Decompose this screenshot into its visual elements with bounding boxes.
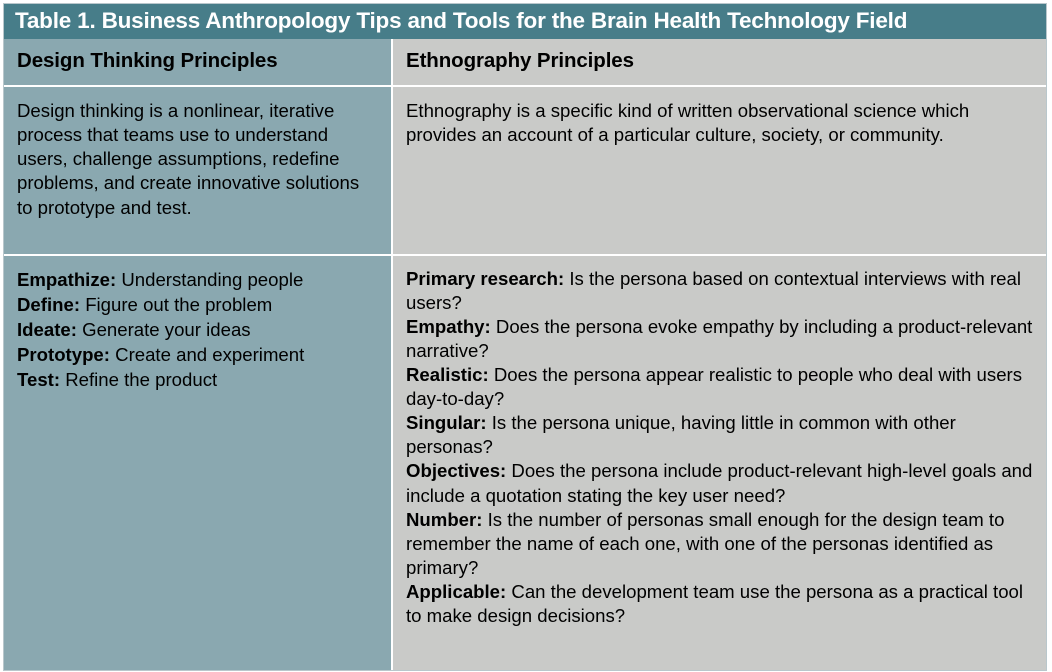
ethnography-criterion: Number: Is the number of personas small … [406,508,1033,580]
ethnography-criterion-text: Does the persona appear realistic to peo… [406,364,1022,409]
table-row-principles: Empathize: Understanding peopleDefine: F… [4,254,1046,670]
cell-ethnography-definition: Ethnography is a specific kind of writte… [393,87,1046,254]
design-thinking-step-lead: Define: [17,294,80,315]
design-thinking-step: Define: Figure out the problem [17,292,378,317]
design-thinking-step-lead: Test: [17,369,60,390]
ethnography-criterion-text: Is the persona unique, having little in … [406,412,956,457]
ethnography-criterion: Objectives: Does the persona include pro… [406,459,1033,507]
column-header-design-thinking: Design Thinking Principles [4,39,393,85]
ethnography-criterion: Singular: Is the persona unique, having … [406,411,1033,459]
cell-design-thinking-definition: Design thinking is a nonlinear, iterativ… [4,87,393,254]
design-thinking-step-lead: Empathize: [17,269,116,290]
design-thinking-definition-text: Design thinking is a nonlinear, iterativ… [17,99,378,220]
table-container: Table 1. Business Anthropology Tips and … [3,3,1047,671]
cell-ethnography-criteria: Primary research: Is the persona based o… [393,256,1046,670]
ethnography-criterion: Applicable: Can the development team use… [406,580,1033,628]
ethnography-criterion-text: Is the number of personas small enough f… [406,509,1004,578]
design-thinking-step: Empathize: Understanding people [17,267,378,292]
ethnography-criterion-lead: Applicable: [406,581,506,602]
design-thinking-step-lead: Prototype: [17,344,110,365]
ethnography-criterion-lead: Empathy: [406,316,491,337]
ethnography-criterion-text: Does the persona evoke empathy by includ… [406,316,1032,361]
table-header-row: Design Thinking Principles Ethnography P… [4,39,1046,85]
ethnography-criterion-lead: Realistic: [406,364,489,385]
ethnography-criterion: Primary research: Is the persona based o… [406,267,1033,315]
column-header-ethnography: Ethnography Principles [393,39,1046,85]
design-thinking-step: Prototype: Create and experiment [17,342,378,367]
table-row-definitions: Design thinking is a nonlinear, iterativ… [4,85,1046,254]
ethnography-criterion-lead: Objectives: [406,460,506,481]
design-thinking-step-text: Understanding people [116,269,303,290]
ethnography-criterion-lead: Number: [406,509,482,530]
ethnography-criterion: Empathy: Does the persona evoke empathy … [406,315,1033,363]
ethnography-definition-text: Ethnography is a specific kind of writte… [406,99,1033,147]
ethnography-criterion: Realistic: Does the persona appear reali… [406,363,1033,411]
design-thinking-step: Ideate: Generate your ideas [17,317,378,342]
ethnography-criterion-lead: Primary research: [406,268,564,289]
design-thinking-step-lead: Ideate: [17,319,77,340]
table-title: Table 1. Business Anthropology Tips and … [4,4,1046,39]
ethnography-criterion-lead: Singular: [406,412,487,433]
design-thinking-step-text: Create and experiment [110,344,304,365]
design-thinking-step-text: Figure out the problem [80,294,272,315]
design-thinking-step-list: Empathize: Understanding peopleDefine: F… [17,267,378,392]
design-thinking-step-text: Refine the product [60,369,217,390]
ethnography-criteria-list: Primary research: Is the persona based o… [406,267,1033,628]
cell-design-thinking-steps: Empathize: Understanding peopleDefine: F… [4,256,393,670]
design-thinking-step: Test: Refine the product [17,367,378,392]
table: Table 1. Business Anthropology Tips and … [4,4,1046,670]
design-thinking-step-text: Generate your ideas [77,319,251,340]
